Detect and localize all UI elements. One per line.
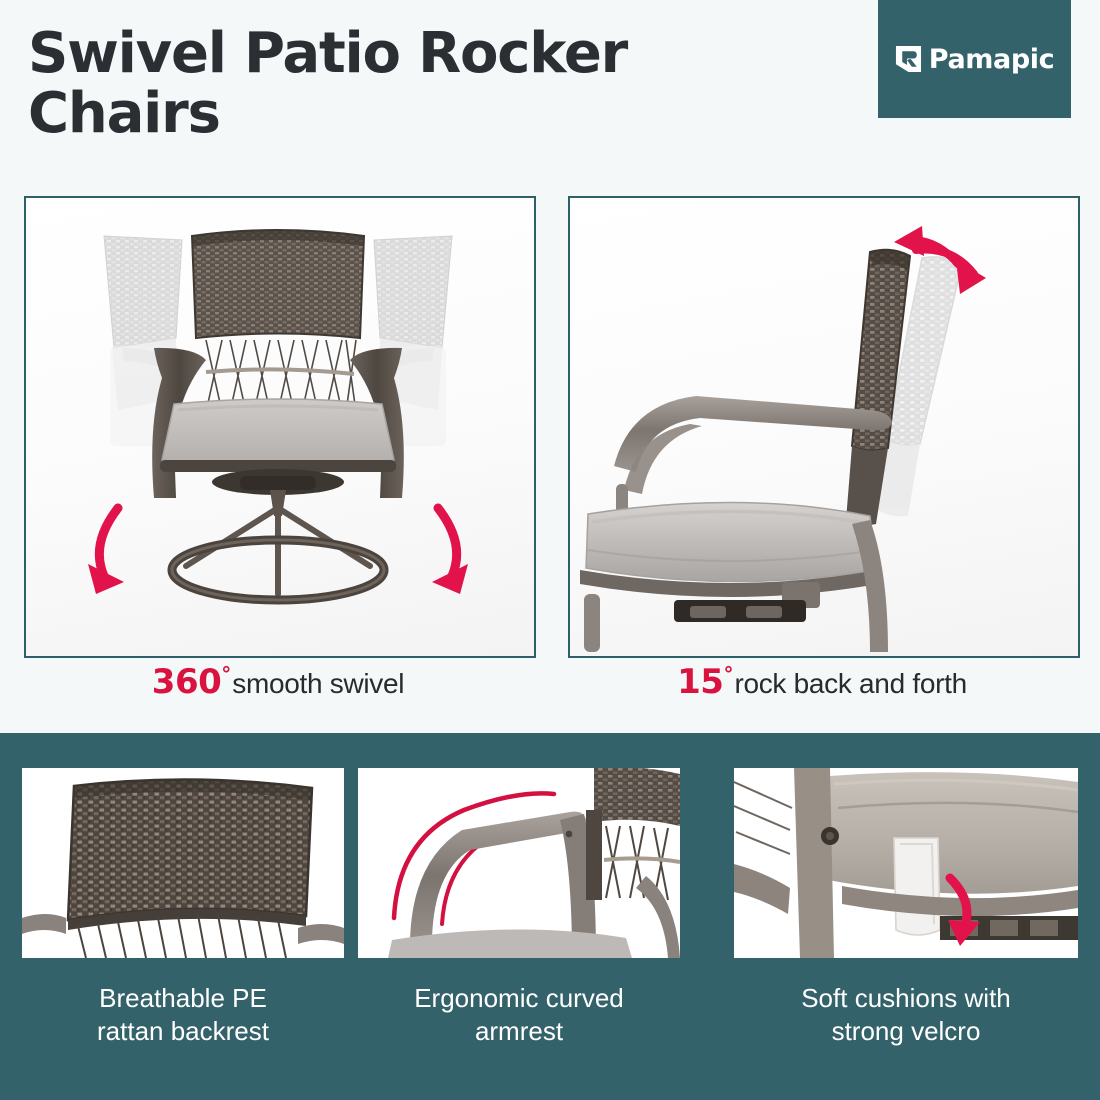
caption-swivel-text: smooth swivel [232,668,404,700]
page-title: Swivel Patio Rocker Chairs [28,24,808,144]
armrest-illustration [358,768,680,958]
swivel-chair-illustration [26,198,530,652]
caption-rock-text: rock back and forth [734,668,966,700]
caption-armrest: Ergonomic curved armrest [358,982,680,1058]
page-title-line-1: Swivel Patio Rocker [28,21,627,86]
caption-rattan-line-2: rattan backrest [22,1015,344,1048]
feature-image-rattan [22,768,344,958]
caption-armrest-line-2: armrest [358,1015,680,1048]
caption-swivel-number: 360 [152,662,221,702]
rotation-arrow-right [432,508,468,594]
caption-velcro: Soft cushions with strong velcro [734,982,1078,1058]
caption-swivel-degree: ° [221,662,231,686]
pamapic-p-mark-icon [895,45,922,73]
caption-rock: 15°rock back and forth [568,662,1076,706]
brand-name: Pamapic [929,44,1054,75]
caption-velcro-line-1: Soft cushions with [801,983,1011,1013]
swivel-photo [26,198,534,656]
brand-logo: Pamapic [878,0,1071,118]
caption-swivel: 360°smooth swivel [24,662,532,706]
caption-rattan-line-1: Breathable PE [99,983,267,1013]
caption-armrest-line-1: Ergonomic curved [414,983,624,1013]
velcro-illustration [734,768,1078,958]
rocking-chair-illustration [570,198,1074,652]
caption-rock-degree: ° [723,662,733,686]
caption-rattan: Breathable PE rattan backrest [22,982,344,1058]
top-feature-row [0,196,1100,656]
feature-image-rock [568,196,1080,658]
page-header: Swivel Patio Rocker Chairs Pamapic [0,0,1100,180]
caption-rock-number: 15 [677,662,723,702]
feature-image-velcro [734,768,1078,958]
page-title-line-2: Chairs [28,81,220,146]
rock-photo [570,198,1078,656]
feature-image-swivel [24,196,536,658]
bottom-feature-row [0,768,1100,958]
rotation-arrow-left [88,508,124,594]
caption-velcro-line-2: strong velcro [734,1015,1078,1048]
rattan-backrest-illustration [22,768,344,958]
feature-image-armrest [358,768,680,958]
